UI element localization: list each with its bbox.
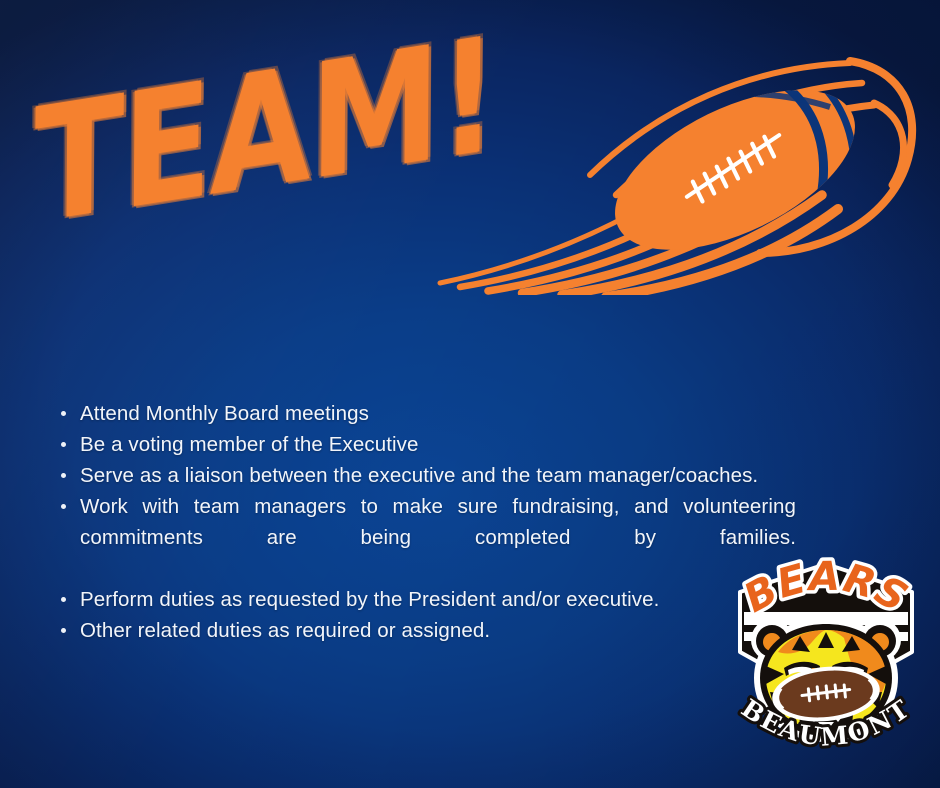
list-item: Perform duties as requested by the Presi… bbox=[56, 584, 796, 615]
list-item: Be a voting member of the Executive bbox=[56, 429, 796, 460]
duties-list: Attend Monthly Board meetings Be a votin… bbox=[56, 398, 796, 646]
page-title: U9 DIVISION DIRECTOR bbox=[336, 258, 940, 310]
list-item: Work with team managers to make sure fun… bbox=[56, 491, 796, 584]
list-item: Other related duties as required or assi… bbox=[56, 615, 796, 646]
list-item: Serve as a liaison between the executive… bbox=[56, 460, 796, 491]
position-term-text: 1 YEAR POSITION bbox=[486, 336, 792, 374]
bears-logo-icon: BEARS BEARS bbox=[726, 556, 926, 768]
position-term: 1 YEAR POSITION bbox=[478, 338, 800, 371]
page-title-text: U9 DIVISION DIRECTOR bbox=[350, 254, 940, 314]
job-posting-poster: JOIN OUR TEAM! U9 DIVISION DIRECTOR 1 YE… bbox=[0, 0, 940, 788]
beaumont-bears-logo: BEARS BEARS bbox=[726, 556, 926, 768]
list-item: Attend Monthly Board meetings bbox=[56, 398, 796, 429]
